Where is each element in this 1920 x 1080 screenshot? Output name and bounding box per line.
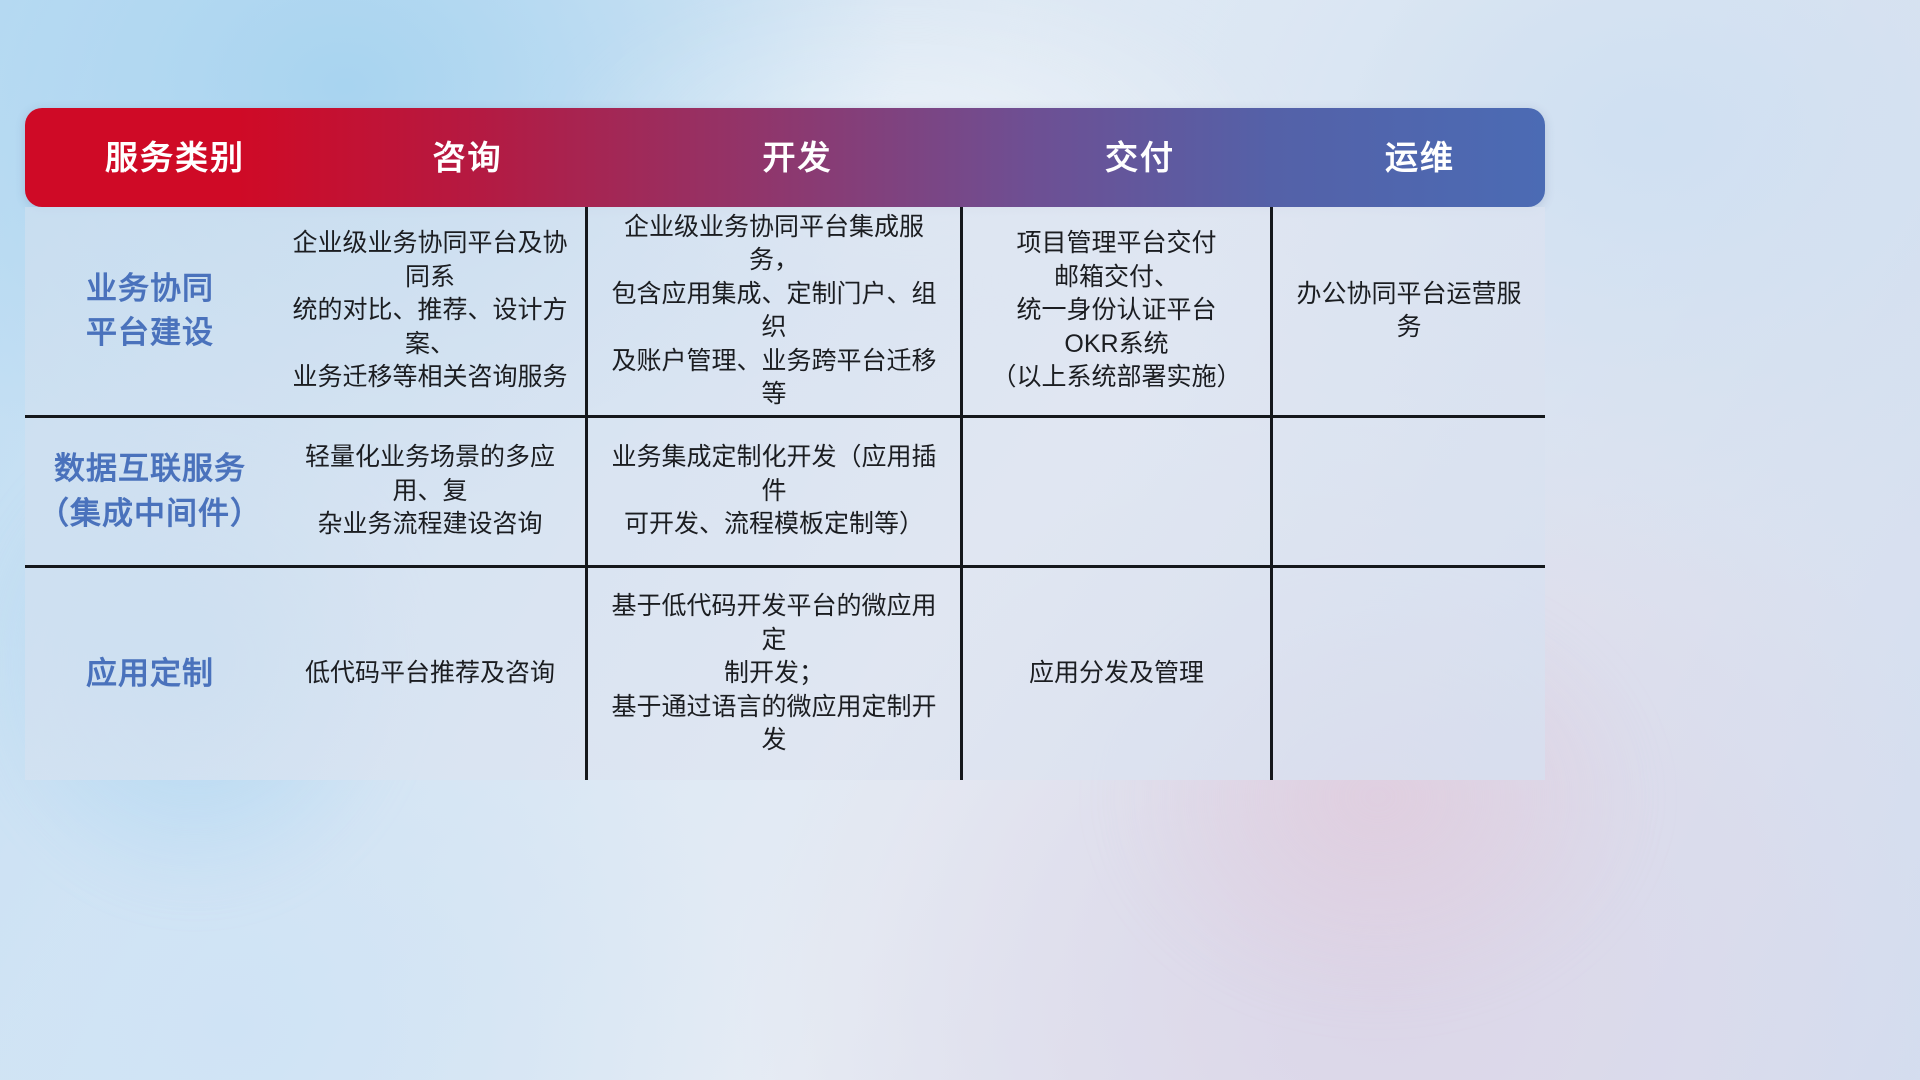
column-header-consulting: 咨询 — [325, 141, 610, 174]
table-row: 业务集成定制化开发（应用插件 可开发、流程模板定制等） — [588, 418, 960, 565]
table-row: 数据互联服务 （集成中间件） — [25, 418, 275, 565]
column-header-development: 开发 — [610, 141, 985, 174]
table-row — [963, 418, 1270, 565]
table-row: 企业级业务协同平台集成服务， 包含应用集成、定制门户、组织 及账户管理、业务跨平… — [588, 207, 960, 415]
service-matrix-table: 服务类别 咨询 开发 交付 运维 业务协同 平台建设 企业级业务协同平台及协同系… — [25, 108, 1545, 780]
table-row: 基于低代码开发平台的微应用定 制开发； 基于通过语言的微应用定制开发 — [588, 568, 960, 780]
table-row: 办公协同平台运营服务 — [1273, 207, 1545, 415]
table-header-row: 服务类别 咨询 开发 交付 运维 — [25, 108, 1545, 207]
table-row: 业务协同 平台建设 — [25, 207, 275, 415]
table-row: 轻量化业务场景的多应用、复 杂业务流程建设咨询 — [275, 418, 585, 565]
column-header-delivery: 交付 — [985, 141, 1295, 174]
column-header-operations: 运维 — [1295, 141, 1545, 174]
column-header-service-category: 服务类别 — [25, 141, 325, 174]
table-row: 低代码平台推荐及咨询 — [275, 568, 585, 780]
table-row: 应用分发及管理 — [963, 568, 1270, 780]
table-row: 企业级业务协同平台及协同系 统的对比、推荐、设计方案、 业务迁移等相关咨询服务 — [275, 207, 585, 415]
table-row: 应用定制 — [25, 568, 275, 780]
table-row — [1273, 568, 1545, 780]
table-row — [1273, 418, 1545, 565]
table-body: 业务协同 平台建设 企业级业务协同平台及协同系 统的对比、推荐、设计方案、 业务… — [25, 207, 1545, 780]
table-row: 项目管理平台交付 邮箱交付、 统一身份认证平台 OKR系统 （以上系统部署实施） — [963, 207, 1270, 415]
